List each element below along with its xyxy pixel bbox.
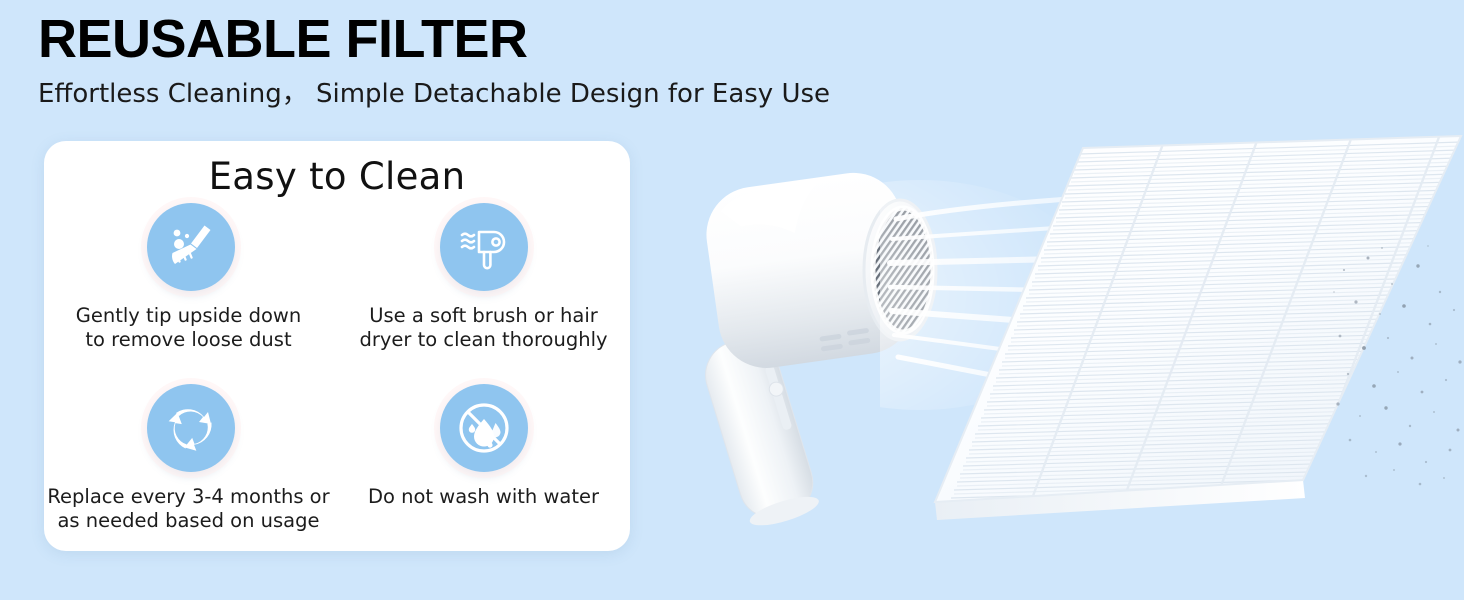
easy-to-clean-card: Easy to Clean: [44, 141, 630, 551]
recycle-icon: [147, 384, 235, 472]
tip-item-no-water: Do not wash with water: [337, 376, 630, 549]
tip-item-recycle: Replace every 3-4 months or as needed ba…: [44, 376, 337, 549]
hair-dryer-icon: [440, 203, 528, 291]
broom-icon: [147, 203, 235, 291]
no-water-icon: [440, 384, 528, 472]
tip-caption: Do not wash with water: [362, 485, 605, 509]
tip-caption: Gently tip upside down to remove loose d…: [70, 304, 307, 353]
reusable-filter-panel: [905, 130, 1464, 520]
tip-caption: Use a soft brush or hair dryer to clean …: [353, 304, 613, 353]
card-title: Easy to Clean: [44, 155, 630, 198]
page-title: REUSABLE FILTER: [38, 8, 528, 70]
tip-item-hair-dryer: Use a soft brush or hair dryer to clean …: [337, 203, 630, 376]
infographic-canvas: REUSABLE FILTER Effortless Cleaning， Sim…: [0, 0, 1464, 600]
tips-grid: Gently tip upside down to remove loose d…: [44, 203, 630, 548]
tip-caption: Replace every 3-4 months or as needed ba…: [41, 485, 335, 534]
tip-item-broom: Gently tip upside down to remove loose d…: [44, 203, 337, 376]
page-subtitle: Effortless Cleaning， Simple Detachable D…: [38, 79, 830, 110]
